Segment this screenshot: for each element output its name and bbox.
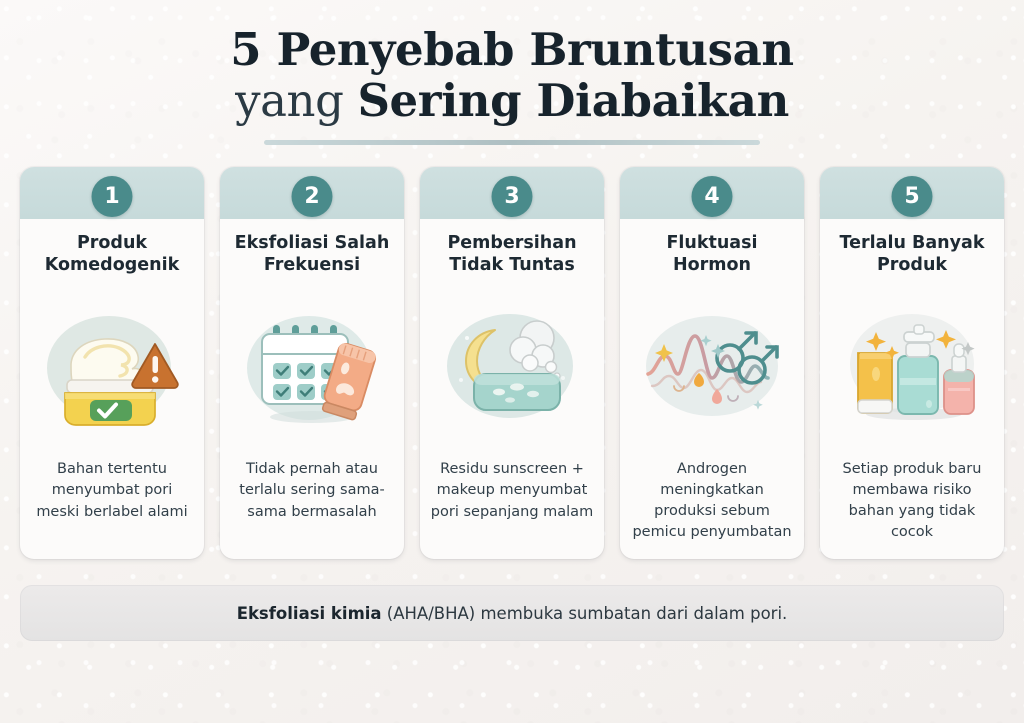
card-illustration-wrap-2	[220, 279, 404, 451]
card-title-3: Pembersihan Tidak Tuntas	[420, 219, 604, 279]
cause-card-4[interactable]: 4 Fluktuasi Hormon	[620, 167, 804, 559]
card-number-badge-3: 3	[492, 176, 533, 217]
card-description-3: Residu sunscreen + makeup menyumbat pori…	[420, 451, 604, 559]
cause-card-1[interactable]: 1 Produk Komedogenik	[20, 167, 204, 559]
card-description-1: Bahan tertentu menyumbat pori meski berl…	[20, 451, 204, 559]
card-number-badge-1: 1	[92, 176, 133, 217]
page-title-line-1: 5 Penyebab Bruntusan	[0, 26, 1024, 75]
page-header: 5 Penyebab Bruntusan yang Sering Diabaik…	[0, 0, 1024, 145]
card-title-4: Fluktuasi Hormon	[620, 219, 804, 279]
footer-text: Eksfoliasi kimia (AHA/BHA) membuka sumba…	[237, 604, 788, 623]
calendar-tube-icon	[237, 308, 387, 426]
cream-jar-warning-icon	[37, 308, 187, 426]
card-header-band-1: 1	[20, 167, 204, 219]
card-description-2: Tidak pernah atau terlalu sering sama-sa…	[220, 451, 404, 559]
page-title-line-2: yang Sering Diabaikan	[0, 77, 1024, 126]
card-illustration-wrap-1	[20, 279, 204, 451]
card-header-band-3: 3	[420, 167, 604, 219]
hormone-wave-gender-icon	[636, 308, 788, 426]
infographic-page: 5 Penyebab Bruntusan yang Sering Diabaik…	[0, 0, 1024, 723]
cause-card-5[interactable]: 5 Terlalu Banyak Produk	[820, 167, 1004, 559]
card-description-4: Androgen meningkatkan produksi sebum pem…	[620, 451, 804, 560]
footer-banner: Eksfoliasi kimia (AHA/BHA) membuka sumba…	[20, 585, 1004, 641]
card-title-2: Eksfoliasi Salah Frekuensi	[220, 219, 404, 279]
cause-card-2[interactable]: 2 Eksfoliasi Salah Frekuensi	[220, 167, 404, 559]
card-illustration-wrap-4	[620, 279, 804, 450]
card-number-badge-2: 2	[292, 176, 333, 217]
card-number-badge-5: 5	[892, 176, 933, 217]
title-underline-accent	[264, 140, 760, 145]
card-illustration-wrap-3	[420, 279, 604, 451]
card-illustration-wrap-5	[820, 279, 1004, 450]
footer-text-rest: (AHA/BHA) membuka sumbatan dari dalam po…	[382, 604, 788, 623]
card-header-band-5: 5	[820, 167, 1004, 219]
card-title-1: Produk Komedogenik	[20, 219, 204, 279]
cards-row: 1 Produk Komedogenik	[0, 167, 1024, 559]
card-header-band-4: 4	[620, 167, 804, 219]
page-title-bold-part: Sering Diabaikan	[357, 74, 788, 127]
skincare-bottles-icon	[836, 308, 988, 426]
moon-soap-foam-icon	[437, 308, 587, 426]
cause-card-3[interactable]: 3 Pembersihan Tidak Tuntas	[420, 167, 604, 559]
card-header-band-2: 2	[220, 167, 404, 219]
page-title-light-part: yang	[235, 74, 357, 127]
footer-text-bold: Eksfoliasi kimia	[237, 604, 382, 623]
card-number-badge-4: 4	[692, 176, 733, 217]
card-title-5: Terlalu Banyak Produk	[820, 219, 1004, 279]
card-description-5: Setiap produk baru membawa risiko bahan …	[820, 451, 1004, 560]
